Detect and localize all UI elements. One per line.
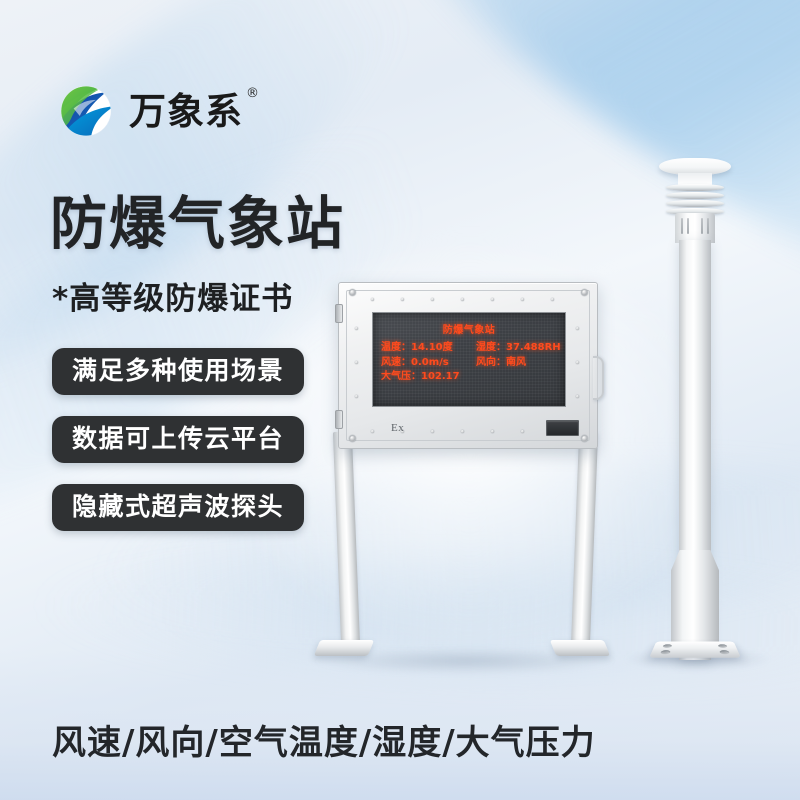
registered-trademark-icon: ® — [246, 87, 260, 100]
base-bolt-hole-icon — [662, 644, 672, 647]
page-subtitle: *高等级防爆证书 — [52, 284, 293, 315]
door-handle-icon[interactable] — [593, 356, 604, 400]
stand-foot-right — [550, 640, 610, 656]
base-bolt-hole-icon — [718, 644, 728, 647]
bolt-icon — [576, 327, 579, 330]
led-reading: 风向：南风 — [476, 357, 565, 369]
brand-name-text: 万象系 — [129, 90, 243, 133]
explosion-proof-enclosure: 防爆气象站 温度：14.10度 湿度：37.488RH 风速：0.0m/s 风向… — [338, 282, 598, 449]
bolt-icon — [431, 298, 434, 301]
feature-pill-list: 满足多种使用场景 数据可上传云平台 隐藏式超声波探头 — [52, 348, 304, 531]
bolt-icon — [355, 395, 358, 398]
radiation-shield-plate-icon — [666, 200, 724, 207]
corner-bolt-icon — [581, 435, 588, 442]
bolt-icon — [461, 430, 464, 433]
bolt-icon — [371, 430, 374, 433]
base-bolt-hole-icon — [660, 650, 671, 654]
sensor-vent-icon — [687, 218, 689, 234]
sensor-body — [675, 213, 715, 243]
ex-certification-marking: Ex — [391, 422, 404, 434]
globe-swirl-logo-icon — [55, 80, 117, 142]
led-readings-grid: 温度：14.10度 湿度：37.488RH 风速：0.0m/s 风向：南风 大气… — [381, 342, 565, 383]
product-marketing-poster: 万象系 ® 防爆气象站 *高等级防爆证书 满足多种使用场景 数据可上传云平台 隐… — [0, 0, 800, 800]
corner-bolt-icon — [581, 289, 588, 296]
bolt-icon — [521, 298, 524, 301]
bolt-icon — [491, 430, 494, 433]
enclosure-hinge-bottom-icon — [335, 410, 343, 429]
radiation-shield-plate-icon — [666, 184, 724, 191]
bolt-icon — [491, 298, 494, 301]
feature-summary-banner: 风速/风向/空气温度/湿度/大气压力 — [52, 726, 596, 760]
mast-pole-taper — [671, 550, 719, 642]
led-reading: 大气压：102.17 — [381, 371, 476, 383]
stand-leg-left — [333, 432, 360, 647]
brand-lockup: 万象系 ® — [55, 80, 243, 142]
bolt-icon — [355, 327, 358, 330]
sensor-vent-icon — [707, 218, 709, 234]
ultrasonic-sensor-mast — [640, 150, 750, 670]
sensor-vent-icon — [681, 218, 683, 234]
bolt-icon — [576, 361, 579, 364]
feature-pill: 数据可上传云平台 — [52, 416, 304, 463]
feature-pill: 隐藏式超声波探头 — [52, 484, 304, 531]
stand-leg-right — [571, 432, 598, 647]
led-display-screen: 防爆气象站 温度：14.10度 湿度：37.488RH 风速：0.0m/s 风向… — [372, 312, 566, 407]
flange-base-plate-icon — [649, 642, 741, 658]
bolt-icon — [551, 298, 554, 301]
corner-bolt-icon — [349, 435, 356, 442]
radiation-shield-plate-icon — [666, 192, 724, 199]
sensor-vent-icon — [701, 218, 703, 234]
stand-foot-left — [314, 640, 374, 656]
bolt-icon — [401, 298, 404, 301]
enclosure-hinge-top-icon — [335, 304, 343, 323]
led-screen-title: 防爆气象站 — [373, 321, 565, 336]
bolt-icon — [355, 361, 358, 364]
feature-pill: 满足多种使用场景 — [52, 348, 304, 395]
bolt-icon — [431, 430, 434, 433]
brand-name: 万象系 ® — [129, 93, 243, 130]
bolt-icon — [576, 395, 579, 398]
led-reading: 温度：14.10度 — [381, 342, 476, 354]
corner-bolt-icon — [349, 289, 356, 296]
led-reading: 湿度：37.488RH — [476, 342, 565, 354]
bolt-icon — [521, 430, 524, 433]
bolt-icon — [371, 298, 374, 301]
bolt-icon — [461, 298, 464, 301]
led-reading: 风速：0.0m/s — [381, 357, 476, 369]
base-bolt-hole-icon — [719, 650, 730, 654]
nameplate-label-icon — [546, 420, 579, 436]
weather-display-station: 防爆气象站 温度：14.10度 湿度：37.488RH 风速：0.0m/s 风向… — [325, 282, 610, 667]
page-title: 防爆气象站 — [50, 196, 345, 253]
